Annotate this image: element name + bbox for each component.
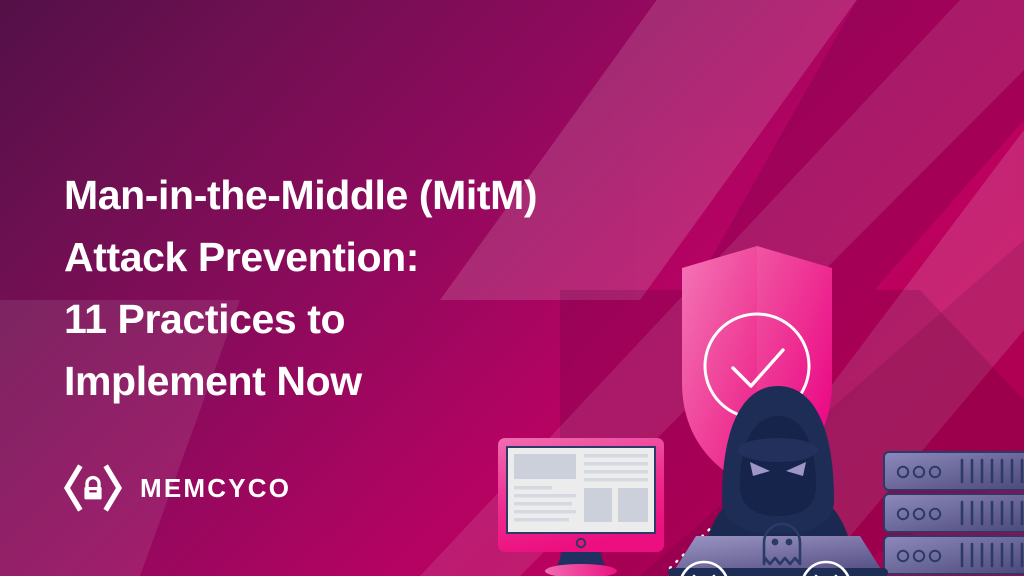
mitm-attack-diagram xyxy=(470,150,1024,576)
laptop-base xyxy=(668,568,888,576)
brackets-padlock-icon xyxy=(63,462,123,514)
logo-wordmark: MEMCYCO xyxy=(140,475,291,501)
monitor-base xyxy=(545,564,617,576)
user-computer-monitor xyxy=(498,438,664,576)
memcyco-logo[interactable]: MEMCYCO xyxy=(63,462,291,514)
hero-banner: Man-in-the-Middle (MitM) Attack Preventi… xyxy=(0,0,1024,576)
server-rack xyxy=(884,452,1024,574)
